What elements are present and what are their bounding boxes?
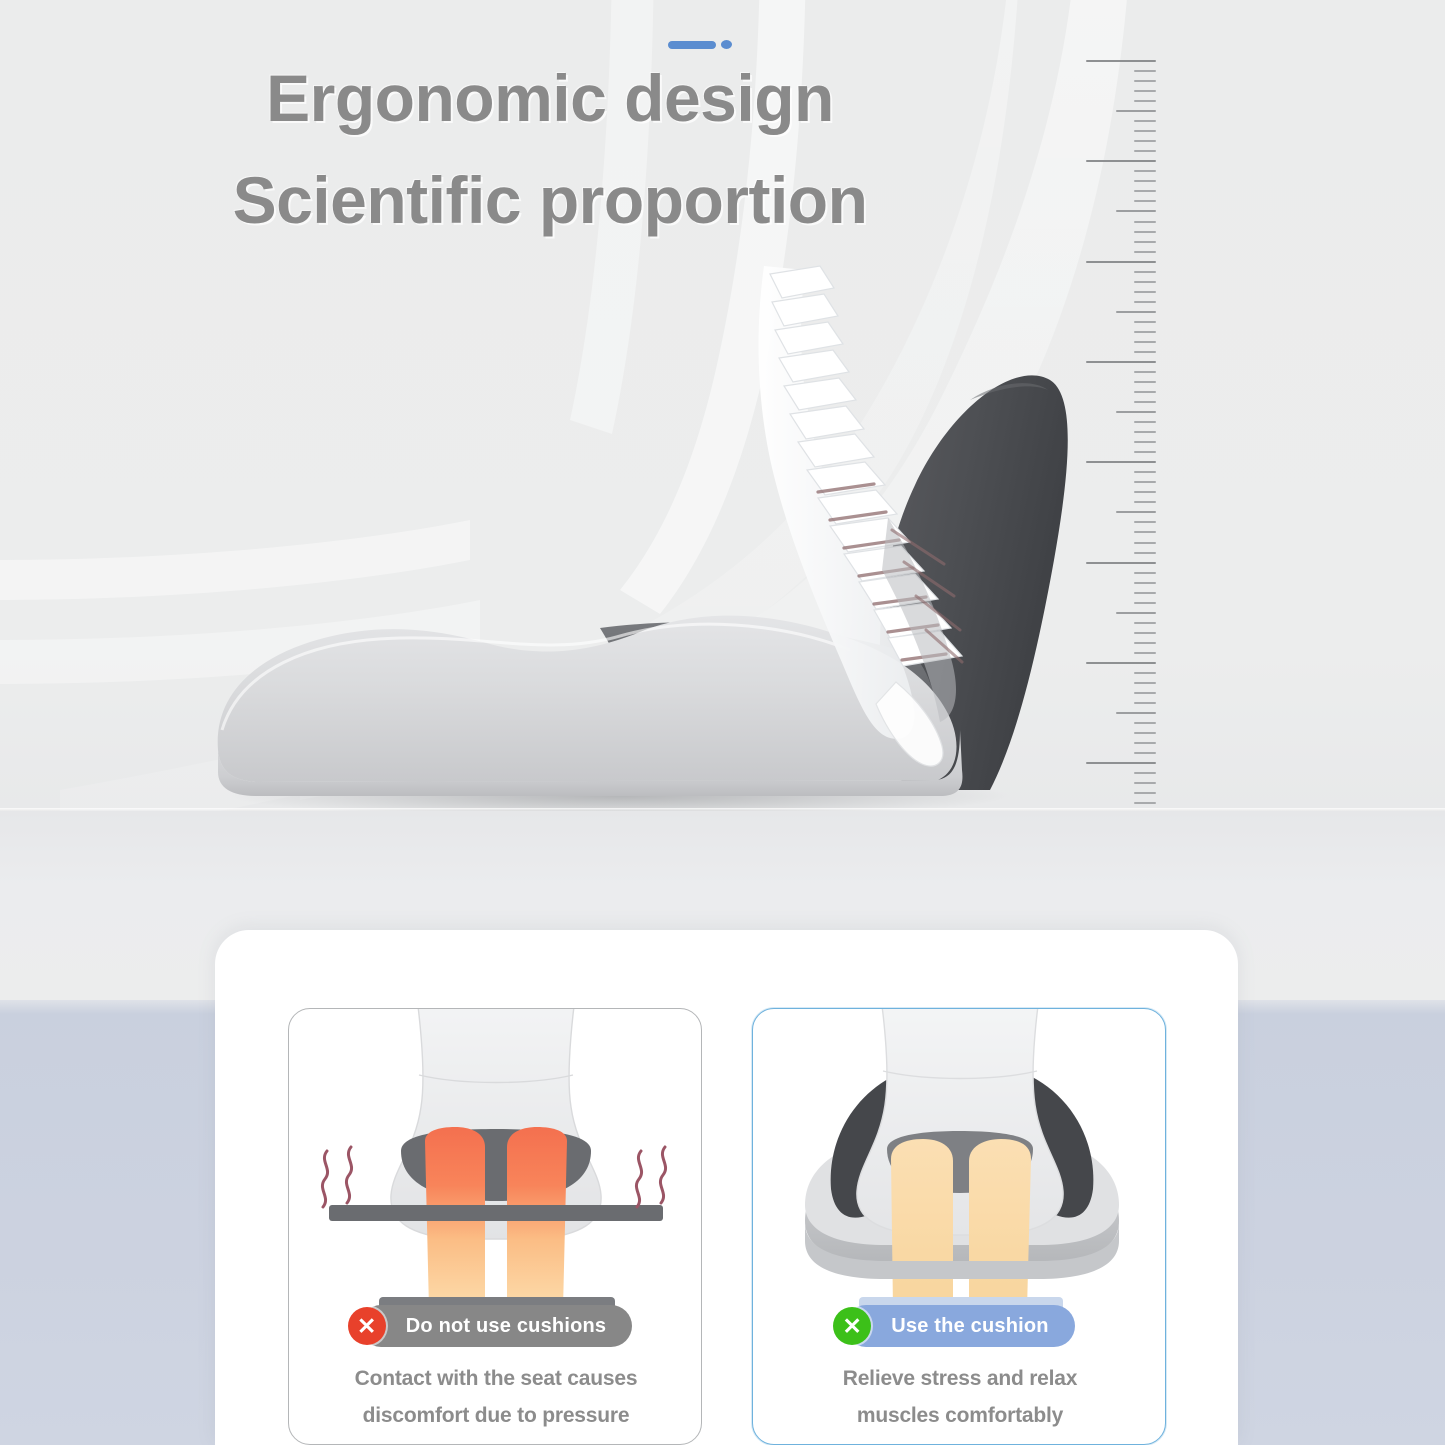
ruler-tick xyxy=(1116,210,1156,212)
ruler-tick xyxy=(1134,251,1156,253)
ruler-tick xyxy=(1134,732,1156,734)
ruler-tick xyxy=(1134,592,1156,594)
ruler-tick xyxy=(1134,200,1156,202)
ruler-tick xyxy=(1134,792,1156,794)
ruler-tick xyxy=(1086,160,1156,162)
ruler-tick xyxy=(1086,261,1156,263)
check-circle-icon: ✕ xyxy=(833,1307,871,1345)
caption-line-2: muscles comfortably xyxy=(753,1398,1166,1435)
ruler-tick xyxy=(1134,521,1156,523)
ruler-tick xyxy=(1134,351,1156,353)
ruler-tick xyxy=(1134,90,1156,92)
hero-section: Ergonomic design Scientific proportion xyxy=(0,0,1445,1000)
panel-with-cushion[interactable]: ✕ Use the cushion Relieve stress and rel… xyxy=(752,1008,1166,1445)
measurement-ruler xyxy=(1084,60,1156,805)
status-badge-no-cushion: ✕ Do not use cushions xyxy=(360,1305,632,1347)
pill-dot xyxy=(721,40,732,49)
pill-bar xyxy=(668,41,716,49)
caption-line-1: Relieve stress and relax xyxy=(753,1361,1166,1398)
ruler-tick xyxy=(1134,782,1156,784)
ruler-tick xyxy=(1134,391,1156,393)
ruler-tick xyxy=(1134,491,1156,493)
headline-line-2: Scientific proportion xyxy=(0,162,1100,240)
seated-figure-pressure-heat-illustration xyxy=(289,1009,702,1309)
product-marketing-image: Ergonomic design Scientific proportion xyxy=(0,0,1445,1445)
badge-row-with-cushion: ✕ Use the cushion xyxy=(753,1305,1166,1347)
ruler-tick xyxy=(1134,221,1156,223)
ruler-tick xyxy=(1134,692,1156,694)
ruler-tick xyxy=(1134,321,1156,323)
ruler-tick xyxy=(1134,80,1156,82)
ruler-tick xyxy=(1134,271,1156,273)
ruler-tick xyxy=(1134,140,1156,142)
ruler-tick xyxy=(1134,802,1156,804)
badge-row-no-cushion: ✕ Do not use cushions xyxy=(289,1305,702,1347)
status-badge-with-cushion: ✕ Use the cushion xyxy=(845,1305,1074,1347)
ruler-tick xyxy=(1134,471,1156,473)
caption-with-cushion: Relieve stress and relax muscles comfort… xyxy=(753,1361,1166,1435)
ruler-tick xyxy=(1134,582,1156,584)
ruler-tick xyxy=(1086,662,1156,664)
caption-line-2: discomfort due to pressure xyxy=(289,1398,702,1435)
decorative-pill-marker xyxy=(668,40,732,49)
ruler-tick xyxy=(1134,742,1156,744)
ruler-tick xyxy=(1134,501,1156,503)
ruler-tick xyxy=(1134,371,1156,373)
ruler-tick xyxy=(1134,170,1156,172)
caption-no-cushion: Contact with the seat causes discomfort … xyxy=(289,1361,702,1435)
ruler-tick xyxy=(1086,562,1156,564)
ruler-tick xyxy=(1134,552,1156,554)
ruler-tick xyxy=(1134,441,1156,443)
ruler-tick xyxy=(1134,632,1156,634)
ruler-tick xyxy=(1134,301,1156,303)
ruler-tick xyxy=(1134,722,1156,724)
ruler-tick xyxy=(1134,341,1156,343)
ruler-tick xyxy=(1116,712,1156,714)
ruler-tick xyxy=(1134,381,1156,383)
ruler-tick xyxy=(1134,682,1156,684)
ruler-tick xyxy=(1134,190,1156,192)
ruler-tick xyxy=(1134,241,1156,243)
headline-line-1: Ergonomic design xyxy=(0,60,1100,138)
ruler-tick xyxy=(1134,150,1156,152)
ruler-tick xyxy=(1134,70,1156,72)
badge-label: Do not use cushions xyxy=(406,1315,606,1338)
caption-line-1: Contact with the seat causes xyxy=(289,1361,702,1398)
cross-icon: ✕ xyxy=(348,1307,386,1345)
ruler-tick xyxy=(1134,772,1156,774)
ruler-tick xyxy=(1134,231,1156,233)
ruler-tick xyxy=(1134,622,1156,624)
ruler-tick xyxy=(1134,421,1156,423)
ruler-tick xyxy=(1134,130,1156,132)
ruler-tick xyxy=(1134,120,1156,122)
ruler-tick xyxy=(1086,461,1156,463)
ruler-tick xyxy=(1134,642,1156,644)
ruler-tick xyxy=(1134,401,1156,403)
comparison-panels: ✕ Do not use cushions Contact with the s… xyxy=(288,1008,1166,1445)
ruler-tick xyxy=(1134,331,1156,333)
ruler-tick xyxy=(1134,542,1156,544)
ruler-tick xyxy=(1086,60,1156,62)
ruler-tick xyxy=(1134,672,1156,674)
ruler-tick xyxy=(1134,451,1156,453)
ruler-tick xyxy=(1134,531,1156,533)
ruler-tick xyxy=(1134,602,1156,604)
ruler-tick xyxy=(1116,411,1156,413)
ruler-tick xyxy=(1134,291,1156,293)
ruler-tick xyxy=(1116,110,1156,112)
ruler-tick xyxy=(1134,180,1156,182)
ruler-tick xyxy=(1116,511,1156,513)
badge-label: Use the cushion xyxy=(891,1315,1048,1338)
ruler-tick xyxy=(1134,431,1156,433)
seated-figure-on-cushion-illustration xyxy=(753,1009,1166,1309)
ruler-tick xyxy=(1134,100,1156,102)
ruler-tick xyxy=(1134,281,1156,283)
ergonomic-seat-cushion xyxy=(170,230,1070,820)
ruler-tick xyxy=(1086,762,1156,764)
panel-no-cushion[interactable]: ✕ Do not use cushions Contact with the s… xyxy=(288,1008,702,1445)
ruler-tick xyxy=(1116,311,1156,313)
comparison-card: ✕ Do not use cushions Contact with the s… xyxy=(215,930,1238,1445)
ruler-tick xyxy=(1134,752,1156,754)
page-title: Ergonomic design Scientific proportion xyxy=(0,60,1100,240)
ruler-tick xyxy=(1134,702,1156,704)
ruler-tick xyxy=(1116,612,1156,614)
ruler-tick xyxy=(1086,361,1156,363)
ruler-tick xyxy=(1134,572,1156,574)
ruler-tick xyxy=(1134,652,1156,654)
ruler-tick xyxy=(1134,481,1156,483)
